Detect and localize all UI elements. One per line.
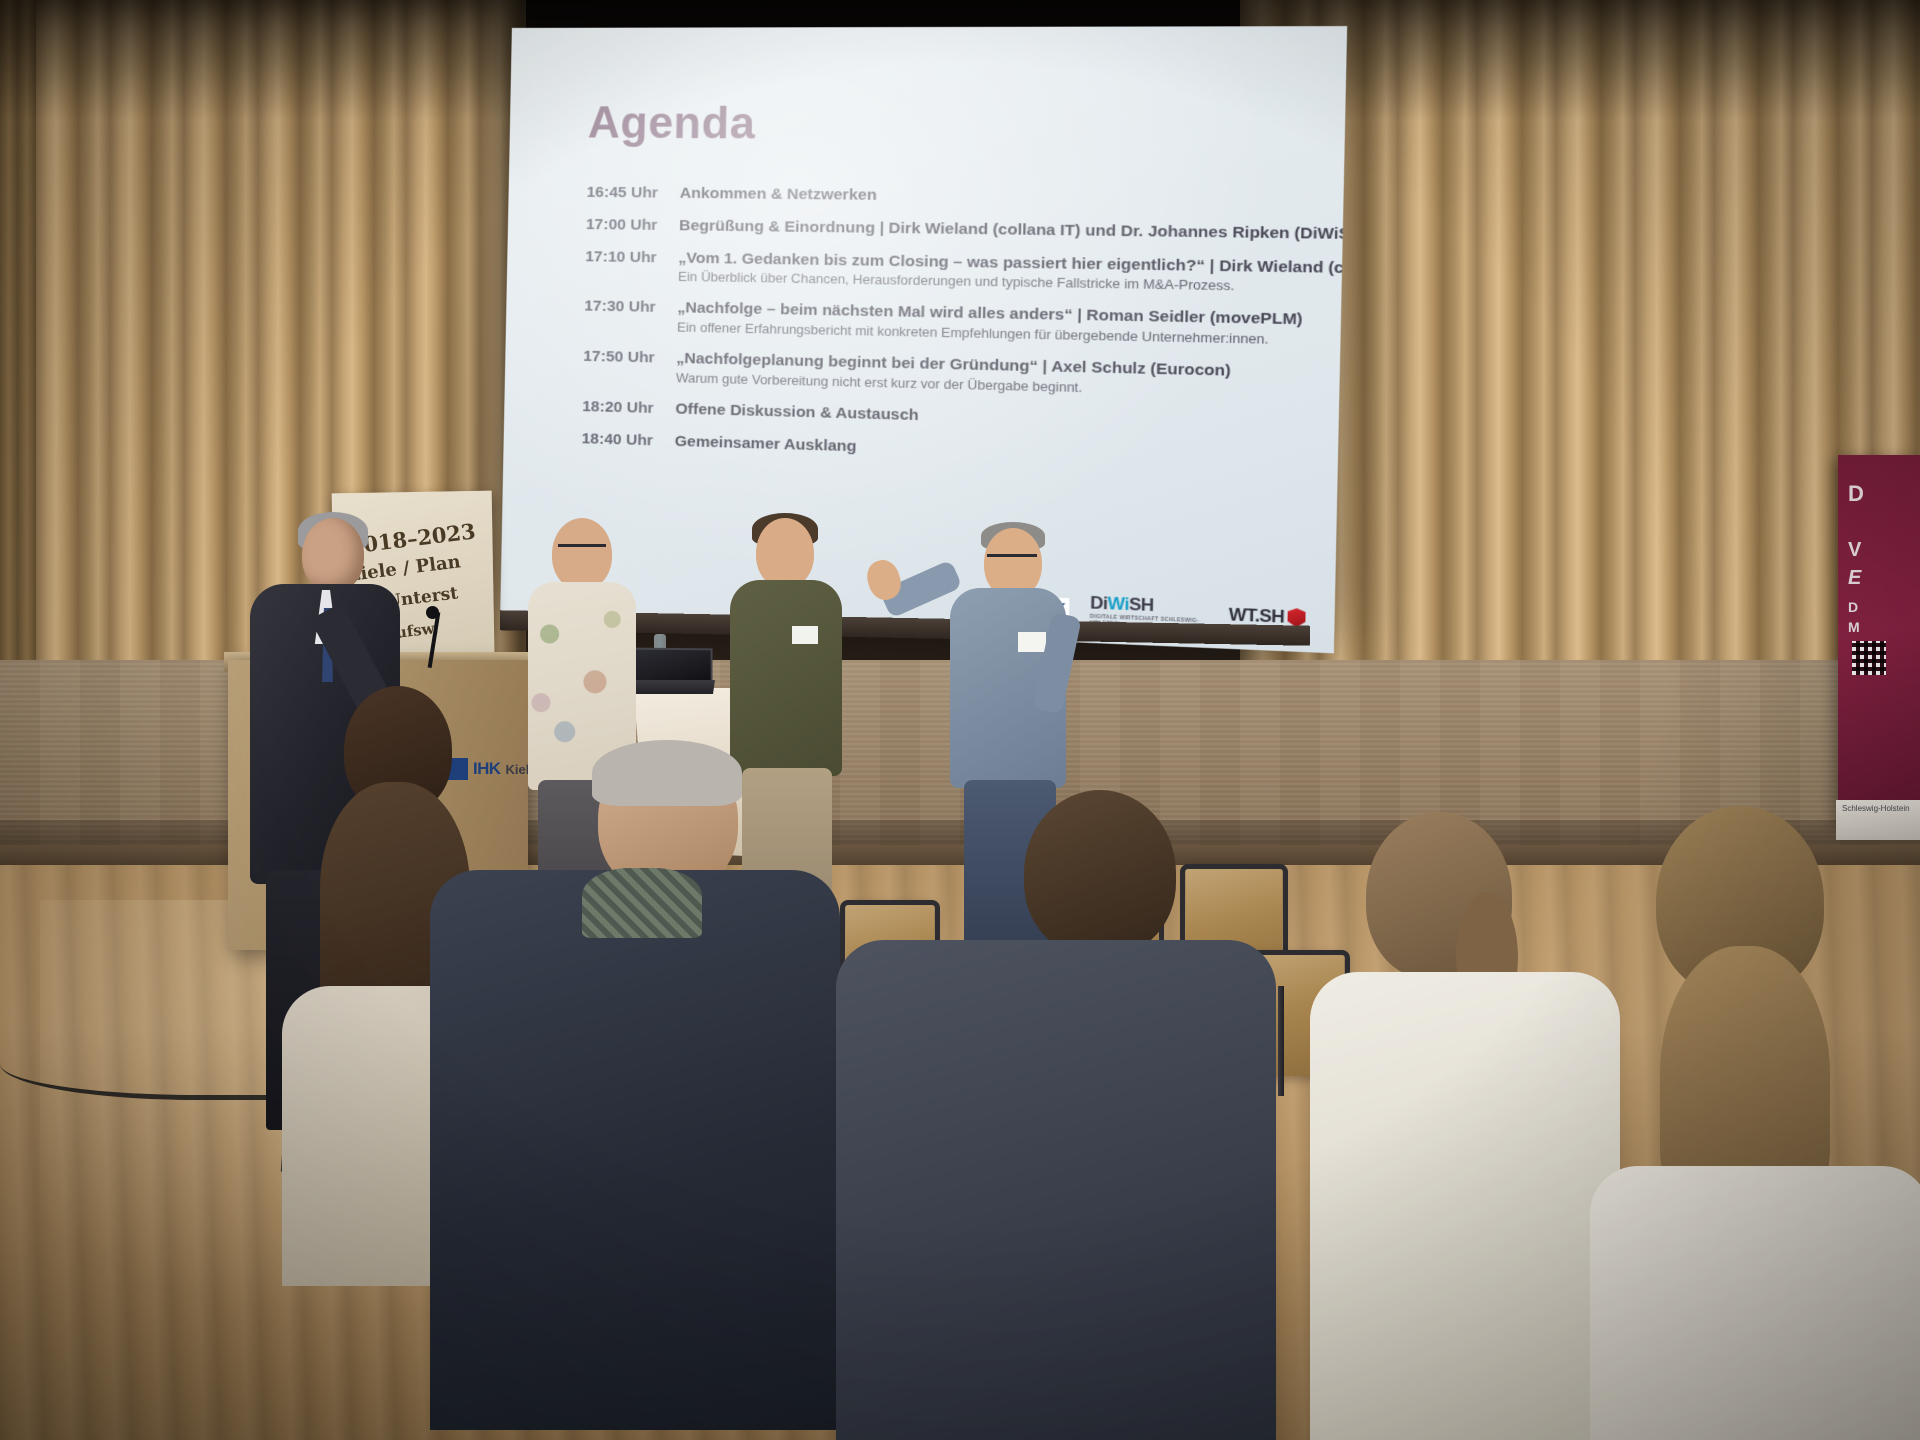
torso: [1310, 972, 1620, 1440]
agenda-main: Begrüßung & Einordnung | Dirk Wieland (c…: [679, 216, 1347, 245]
glasses-icon: [987, 554, 1037, 565]
banner-line: D: [1848, 481, 1864, 507]
agenda-time: 18:20 Uhr: [582, 397, 671, 419]
agenda-item: 17:50 Uhr „Nachfolgeplanung beginnt bei …: [583, 347, 1311, 403]
audience-member: [836, 790, 1276, 1440]
audience-member: [430, 744, 840, 1440]
audience-member: [1590, 806, 1920, 1440]
banner-line: M: [1848, 619, 1860, 635]
photo-scene: Agenda 16:45 Uhr Ankommen & Netzwerken 1…: [0, 0, 1920, 1440]
agenda-body: Ankommen & Netzwerken: [675, 184, 876, 206]
torso: [836, 940, 1276, 1440]
agenda-item: 17:10 Uhr „Vom 1. Gedanken bis zum Closi…: [585, 247, 1313, 297]
laptop-screen: [634, 648, 713, 685]
slide-title: Agenda: [587, 98, 1316, 153]
agenda-body: „Nachfolgeplanung beginnt bei der Gründu…: [672, 349, 1231, 401]
banner-line: E: [1848, 567, 1862, 590]
agenda-body: Begrüßung & Einordnung | Dirk Wieland (c…: [675, 216, 1347, 245]
microphone-icon: [426, 606, 439, 619]
agenda-main: Ankommen & Netzwerken: [680, 184, 877, 206]
head: [302, 518, 364, 592]
name-badge: [1018, 632, 1046, 652]
agenda-item: 18:20 Uhr Offene Diskussion & Austausch: [582, 397, 1310, 437]
agenda-time: 18:40 Uhr: [581, 429, 670, 452]
banner-line: V: [1848, 539, 1862, 562]
agenda-body: Offene Diskussion & Austausch: [671, 399, 919, 426]
banner-footer: Schleswig-Holstein: [1836, 800, 1920, 840]
head: [756, 518, 814, 588]
hair: [592, 740, 742, 806]
agenda-body: „Nachfolge – beim nächsten Mal wird alle…: [673, 298, 1303, 349]
agenda-body: „Vom 1. Gedanken bis zum Closing – was p…: [674, 248, 1347, 299]
laptop-keyboard: [629, 680, 715, 694]
agenda-time: 17:30 Uhr: [584, 297, 674, 337]
name-badge: [792, 626, 818, 644]
agenda-time: 16:45 Uhr: [586, 183, 675, 204]
agenda-main: Offene Diskussion & Austausch: [675, 399, 919, 426]
agenda-main: Gemeinsamer Ausklang: [675, 431, 857, 456]
agenda-time: 17:50 Uhr: [583, 347, 673, 387]
collar: [582, 868, 702, 938]
agenda-body: Gemeinsamer Ausklang: [670, 431, 856, 457]
head: [1024, 790, 1176, 956]
agenda-time: 17:10 Uhr: [585, 247, 675, 286]
banner-line: D: [1848, 599, 1859, 615]
agenda-item: 16:45 Uhr Ankommen & Netzwerken: [586, 183, 1314, 211]
banner-footer-text: Schleswig-Holstein: [1836, 800, 1920, 817]
agenda-item: 17:30 Uhr „Nachfolge – beim nächsten Mal…: [584, 297, 1312, 350]
qr-code-icon: [1852, 641, 1886, 675]
glasses-icon: [558, 544, 606, 555]
agenda-time: 17:00 Uhr: [586, 215, 675, 236]
rollup-banner: D V E D M: [1838, 455, 1920, 825]
agenda-item: 17:00 Uhr Begrüßung & Einordnung | Dirk …: [586, 215, 1314, 245]
agenda-item: 18:40 Uhr Gemeinsamer Ausklang: [581, 429, 1309, 470]
audience-member: [1310, 796, 1610, 1440]
torso: [430, 870, 840, 1430]
torso: [1590, 1166, 1920, 1440]
